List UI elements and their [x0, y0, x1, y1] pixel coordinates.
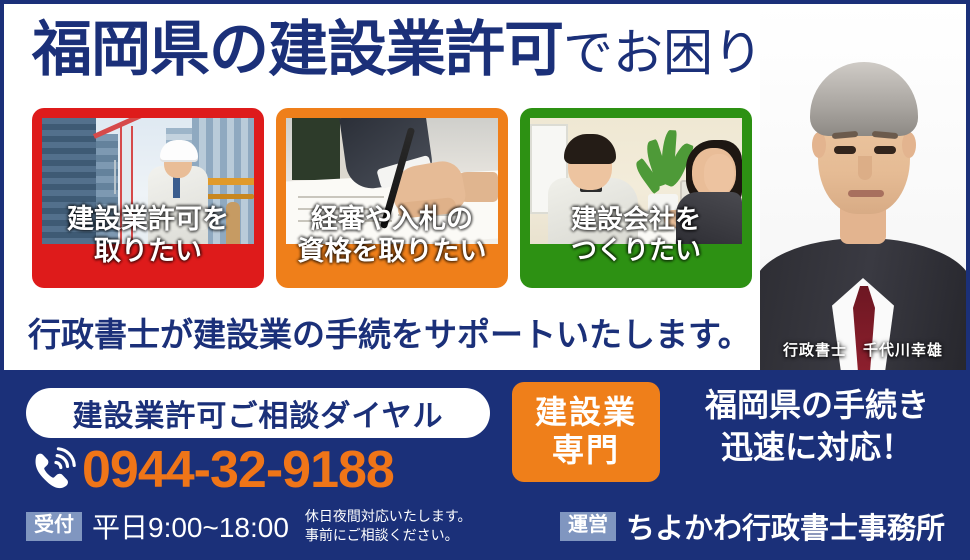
operator-name: ちよかわ行政書士事務所	[626, 505, 945, 547]
advertisement-banner: 福岡県の建設業許可でお困りの方へ	[0, 0, 970, 560]
service-card-label: 経審や入札の 資格を取りたい	[276, 204, 508, 268]
portrait-caption: 行政書士 千代川幸雄	[760, 339, 966, 360]
top-section: 福岡県の建設業許可でお困りの方へ	[4, 4, 966, 370]
contact-section: 建設業許可ご相談ダイヤル 0944-32-9188 受付 平日9:00~18:0…	[4, 370, 966, 556]
specialty-badge: 建設業 専門	[512, 382, 660, 482]
reception-note: 休日夜間対応いたします。 事前にご相談ください。	[305, 507, 472, 546]
service-card-construction-permit[interactable]: 建設業許可を 取りたい	[32, 108, 264, 288]
service-card-company-setup[interactable]: 建設会社を つくりたい	[520, 108, 752, 288]
consultation-dial-label: 建設業許可ご相談ダイヤル	[26, 388, 490, 438]
gyoseishoshi-portrait-photo: 行政書士 千代川幸雄	[760, 4, 966, 370]
reception-hours-row: 受付 平日9:00~18:00 休日夜間対応いたします。 事前にご相談ください。	[26, 506, 546, 546]
reception-badge: 受付	[26, 512, 82, 541]
service-card-exam-bidding[interactable]: 経審や入札の 資格を取りたい	[276, 108, 508, 288]
phone-call-icon	[24, 447, 78, 493]
operator-badge: 運営	[560, 512, 616, 541]
service-card-list: 建設業許可を 取りたい	[32, 108, 752, 292]
promise-text: 福岡県の手続き 迅速に対応！	[672, 384, 962, 468]
service-card-label: 建設会社を つくりたい	[520, 204, 752, 265]
service-card-label: 建設業許可を 取りたい	[32, 204, 264, 268]
phone-row[interactable]: 0944-32-9188	[24, 442, 504, 498]
operator-row: 運営 ちよかわ行政書士事務所	[560, 506, 945, 546]
reception-hours: 平日9:00~18:00	[92, 506, 289, 546]
phone-number[interactable]: 0944-32-9188	[82, 444, 394, 496]
headline-strong: 福岡県の建設業許可	[32, 20, 563, 80]
subheadline: 行政書士が建設業の手続をサポートいたします。	[28, 308, 751, 356]
